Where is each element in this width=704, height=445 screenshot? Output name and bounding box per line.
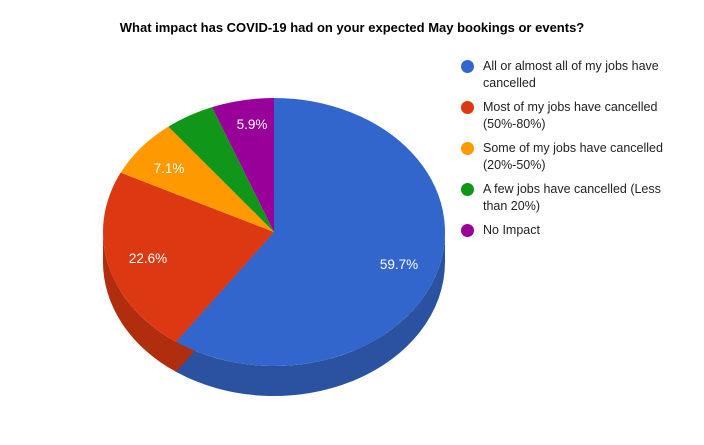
pie-slice-value-label: 59.7% <box>380 257 418 272</box>
legend-item-label: Most of my jobs have cancelled (50%-80%) <box>483 99 688 132</box>
legend-item[interactable]: Some of my jobs have cancelled (20%-50%) <box>461 140 699 173</box>
legend-item[interactable]: All or almost all of my jobs have cancel… <box>461 58 699 91</box>
legend-item[interactable]: Most of my jobs have cancelled (50%-80%) <box>461 99 699 132</box>
legend-item-label: A few jobs have cancelled (Less than 20%… <box>483 181 688 214</box>
pie-slices <box>103 98 445 366</box>
legend-swatch-icon <box>461 183 474 196</box>
legend-item-label: Some of my jobs have cancelled (20%-50%) <box>483 140 688 173</box>
legend-swatch-icon <box>461 101 474 114</box>
legend-swatch-icon <box>461 224 474 237</box>
chart-legend: All or almost all of my jobs have cancel… <box>461 58 699 247</box>
pie-chart: What impact has COVID-19 had on your exp… <box>0 0 704 445</box>
legend-item-label: All or almost all of my jobs have cancel… <box>483 58 688 91</box>
legend-swatch-icon <box>461 142 474 155</box>
pie-slice-value-label: 7.1% <box>154 161 185 176</box>
pie-slice-value-label: 5.9% <box>237 117 268 132</box>
legend-item-label: No Impact <box>483 222 540 239</box>
legend-swatch-icon <box>461 60 474 73</box>
legend-item[interactable]: A few jobs have cancelled (Less than 20%… <box>461 181 699 214</box>
pie-slice-value-label: 22.6% <box>129 251 167 266</box>
legend-item[interactable]: No Impact <box>461 222 699 239</box>
